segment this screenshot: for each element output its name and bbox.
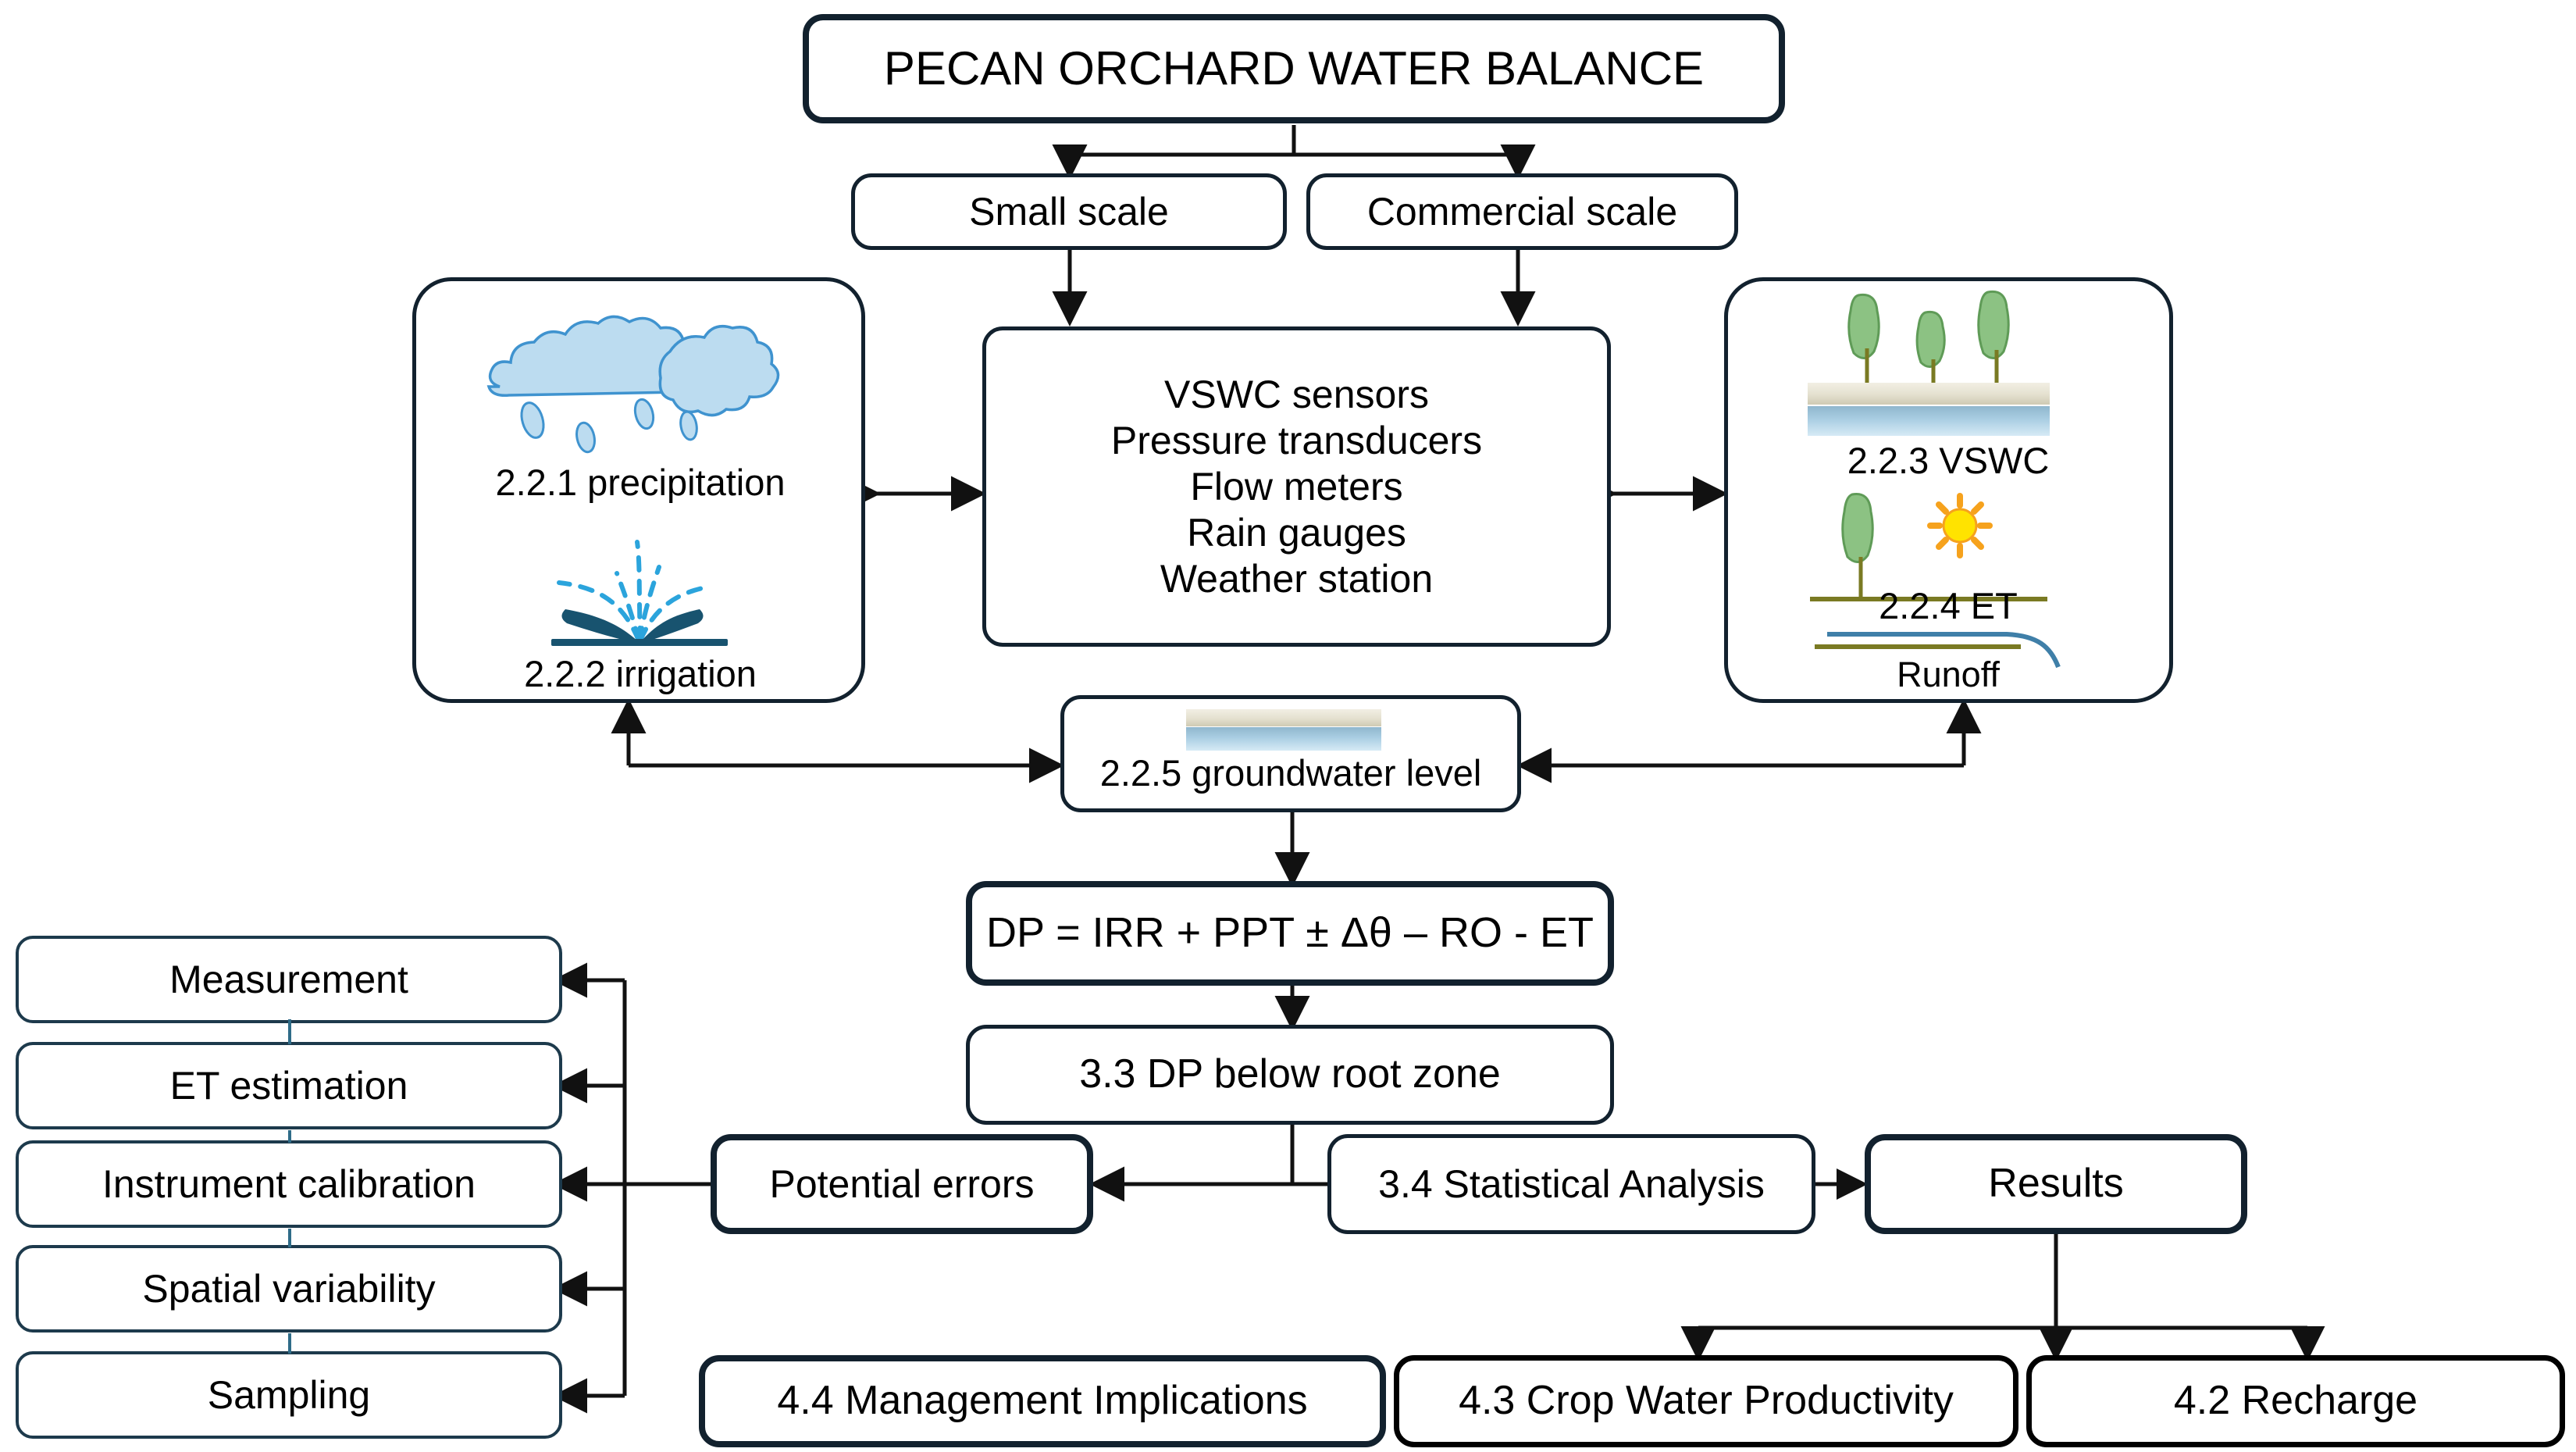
- node-instrument-list: VSWC sensors Pressure transducers Flow m…: [982, 326, 1611, 647]
- runoff-label: Runoff: [1741, 655, 2155, 695]
- node-error-source-measurement[interactable]: Measurement: [16, 936, 562, 1023]
- instrument-line: Pressure transducers: [1111, 418, 1482, 464]
- soil-water-profile-icon: [1808, 383, 2050, 405]
- node-error-source-spatial-variability[interactable]: Spatial variability: [16, 1245, 562, 1332]
- water-table-band: [1808, 406, 2050, 436]
- node-statistical-analysis[interactable]: 3.4 Statistical Analysis: [1327, 1134, 1815, 1234]
- node-small-scale[interactable]: Small scale: [851, 173, 1287, 250]
- instrument-line: Flow meters: [1190, 464, 1402, 510]
- instrument-line: Rain gauges: [1187, 510, 1406, 556]
- groundwater-soil-band: [1186, 709, 1381, 726]
- node-crop-water-productivity[interactable]: 4.3 Crop Water Productivity: [1394, 1355, 2018, 1447]
- node-error-source-instrument-calibration[interactable]: Instrument calibration: [16, 1140, 562, 1228]
- irrigation-label: 2.2.2 irrigation: [437, 652, 843, 695]
- page-title: PECAN ORCHARD WATER BALANCE: [803, 14, 1785, 123]
- node-error-source-et-estimation[interactable]: ET estimation: [16, 1042, 562, 1129]
- node-error-source-sampling[interactable]: Sampling: [16, 1351, 562, 1439]
- et-label: 2.2.4 ET: [1741, 584, 2155, 627]
- node-vswc-et-runoff: [1724, 277, 2173, 703]
- node-results[interactable]: Results: [1865, 1134, 2247, 1234]
- instrument-line: VSWC sensors: [1164, 372, 1429, 418]
- vswc-label: 2.2.3 VSWC: [1741, 439, 2155, 482]
- node-potential-errors[interactable]: Potential errors: [711, 1134, 1093, 1234]
- precipitation-label: 2.2.1 precipitation: [437, 461, 843, 504]
- flowchart-canvas: PECAN ORCHARD WATER BALANCE Small scale …: [0, 0, 2576, 1452]
- instrument-line: Weather station: [1160, 556, 1433, 602]
- node-water-balance-equation: DP = IRR + PPT ± Δθ – RO - ET: [966, 881, 1614, 986]
- node-recharge[interactable]: 4.2 Recharge: [2026, 1355, 2565, 1447]
- node-management-implications[interactable]: 4.4 Management Implications: [699, 1355, 1386, 1447]
- node-commercial-scale[interactable]: Commercial scale: [1306, 173, 1738, 250]
- groundwater-water-band: [1186, 727, 1381, 751]
- node-dp-below-root-zone: 3.3 DP below root zone: [966, 1025, 1614, 1125]
- groundwater-label: 2.2.5 groundwater level: [1070, 751, 1512, 794]
